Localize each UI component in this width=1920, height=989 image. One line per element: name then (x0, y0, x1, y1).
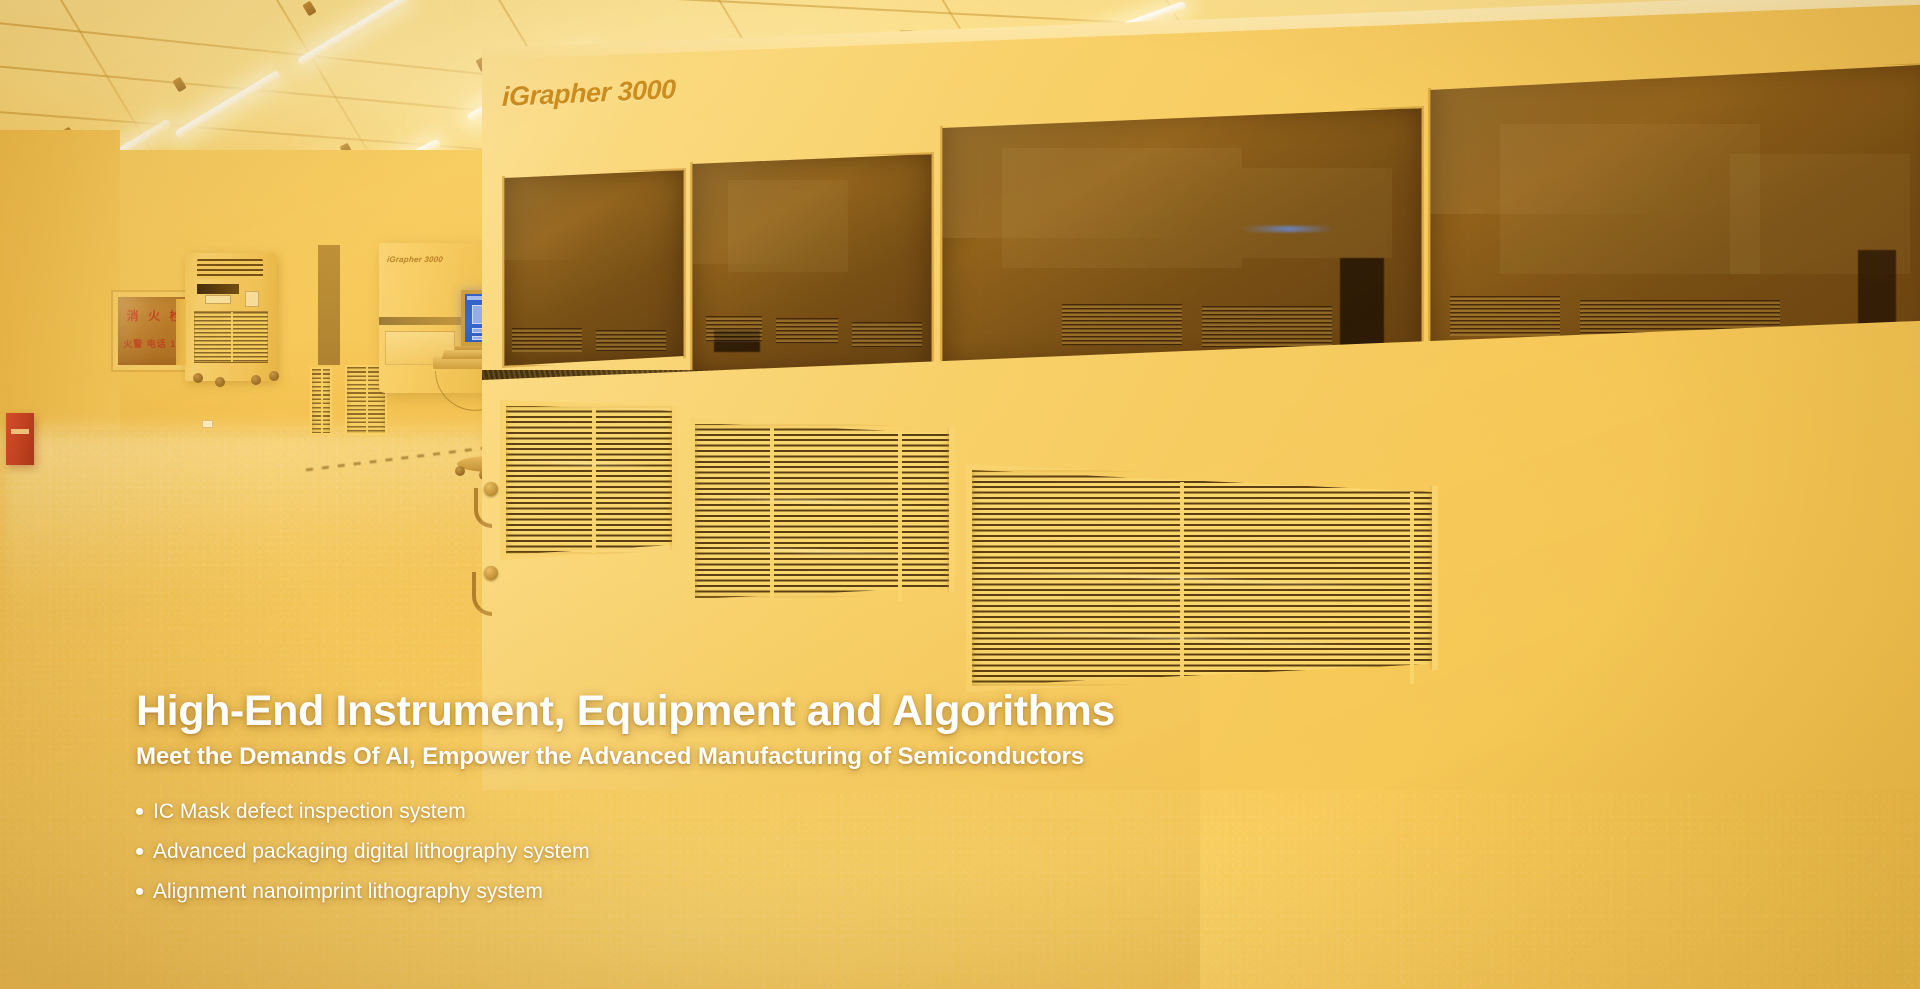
reflected-vent (706, 316, 762, 342)
list-item: Alignment nanoimprint lithography system (136, 881, 1436, 902)
dehumidifier-sticker (245, 291, 259, 307)
machine-viewport-window (692, 154, 932, 376)
grille-divider (1410, 492, 1414, 684)
grille-divider (898, 433, 902, 601)
dehumidifier-brand-label (197, 284, 239, 294)
window-ghost-reflection (1002, 148, 1242, 268)
list-item-label: Alignment nanoimprint lithography system (153, 881, 543, 902)
dehumidifier-side-panel (176, 299, 186, 365)
list-item: IC Mask defect inspection system (136, 801, 1436, 822)
reflected-vent (1202, 306, 1332, 348)
reflected-monitor-glow (1242, 226, 1334, 232)
bullet-dot-icon (136, 848, 143, 855)
caster-wheel-icon (251, 375, 261, 385)
list-item-label: IC Mask defect inspection system (153, 801, 466, 822)
wall-return-vent (310, 367, 332, 435)
reflected-vent (776, 318, 838, 344)
window-reflection (504, 170, 684, 260)
machine-air-grille (694, 423, 950, 599)
list-item: Advanced packaging digital lithography s… (136, 841, 1436, 862)
wall-switch-plate (202, 420, 213, 428)
machine-air-grille (504, 405, 674, 555)
machine-viewport-window (1430, 64, 1920, 364)
feature-list: IC Mask defect inspection system Advance… (136, 801, 1436, 902)
caster-wheel-icon (215, 377, 225, 387)
bullet-dot-icon (136, 808, 143, 815)
reflected-vent (852, 322, 922, 348)
reflected-vent (596, 330, 666, 352)
bullet-dot-icon (136, 888, 143, 895)
reflected-vent (512, 328, 582, 352)
machine-air-grille (972, 470, 1432, 686)
mobile-dehumidifier-unit (185, 253, 277, 381)
caster-wheel-icon (193, 373, 203, 383)
reflected-vent (1450, 296, 1560, 336)
reflected-vent (1062, 304, 1182, 346)
background-doorway (318, 245, 340, 365)
dehumidifier-front-grille (194, 311, 268, 363)
grille-divider (770, 428, 774, 598)
left-wall (0, 130, 120, 460)
hero-banner: 消 火 栓 火警 电话 119 iGrapher 3000 (0, 0, 1920, 989)
igrapher-3000-machine: iGrapher 3000 (480, 0, 1920, 790)
reflected-object (1340, 258, 1384, 354)
grille-divider (1180, 482, 1184, 678)
light-mount-icon (172, 77, 186, 93)
page-title: High-End Instrument, Equipment and Algor… (136, 688, 1436, 734)
caster-wheel-icon (455, 466, 465, 476)
dehumidifier-sticker (205, 295, 231, 304)
window-ghost-reflection (1242, 168, 1392, 258)
background-tool-logo: iGrapher 3000 (387, 255, 444, 264)
caster-wheel-icon (269, 371, 279, 381)
machine-viewport-window (942, 108, 1422, 370)
window-ghost-reflection (728, 180, 848, 272)
machine-viewport-window (504, 170, 684, 366)
fire-extinguisher-box (6, 413, 34, 465)
hero-text-overlay: High-End Instrument, Equipment and Algor… (136, 688, 1436, 921)
grille-divider (592, 408, 596, 553)
list-item-label: Advanced packaging digital lithography s… (153, 841, 590, 862)
light-mount-icon (302, 1, 316, 17)
window-ghost-reflection (1500, 124, 1760, 274)
page-subtitle: Meet the Demands Of AI, Empower the Adva… (136, 743, 1436, 771)
dehumidifier-top-vent (197, 259, 263, 279)
